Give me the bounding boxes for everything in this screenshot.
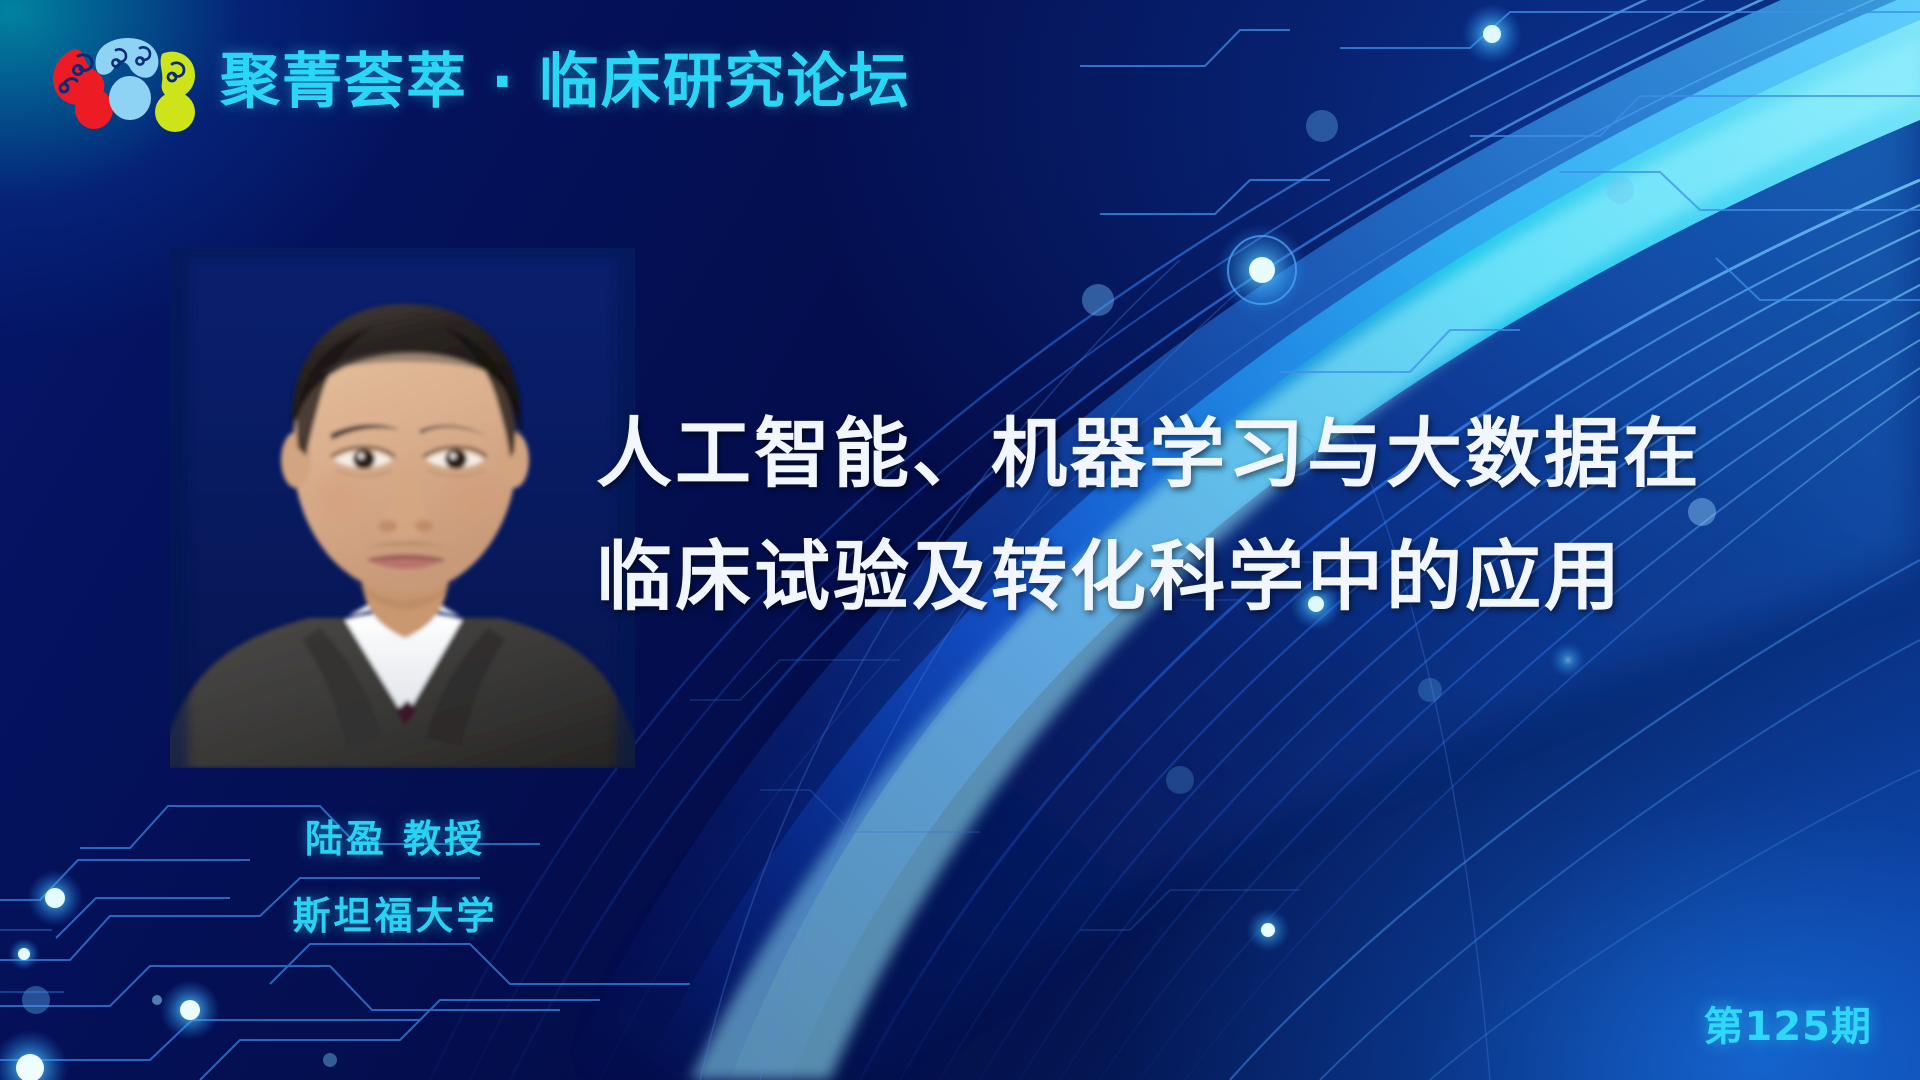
presentation-title-line-2: 临床试验及转化科学中的应用 — [596, 515, 1856, 638]
circuit-traces-left-edge — [0, 930, 64, 992]
slide-canvas: 聚菁荟萃 · 临床研究论坛 — [0, 0, 1920, 1080]
background-arc-lines-faint — [700, 260, 1490, 1080]
speaker-info: 陆盈 教授 斯坦福大学 — [160, 808, 630, 940]
episode-number: 第125期 — [1704, 994, 1873, 1052]
presentation-title-line-1: 人工智能、机器学习与大数据在 — [596, 392, 1856, 515]
forum-title: 聚菁荟萃 · 临床研究论坛 — [220, 33, 911, 120]
speaker-name: 陆盈 教授 — [160, 808, 630, 863]
circuit-traces-top-right — [1080, 12, 1920, 372]
forum-header: 聚菁荟萃 · 临床研究论坛 — [34, 20, 911, 132]
speaker-portrait-image — [170, 248, 635, 768]
presentation-title: 人工智能、机器学习与大数据在 临床试验及转化科学中的应用 — [596, 392, 1856, 638]
speaker-affiliation: 斯坦福大学 — [160, 885, 630, 940]
speaker-portrait — [170, 248, 635, 768]
brain-stethoscope-logo-icon — [34, 20, 202, 132]
